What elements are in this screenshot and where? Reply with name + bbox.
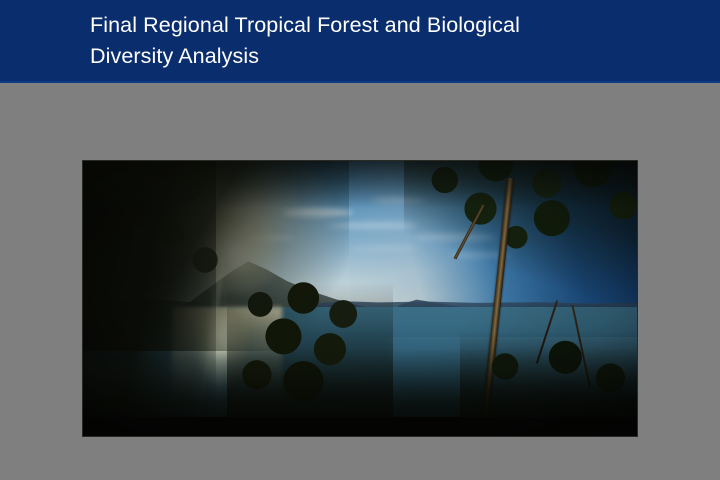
slide-image-frame [82, 160, 638, 437]
tropical-forest-photo [83, 161, 637, 436]
page-title: Final Regional Tropical Forest and Biolo… [90, 10, 650, 72]
presentation-slide: Final Regional Tropical Forest and Biolo… [0, 0, 720, 480]
title-band: Final Regional Tropical Forest and Biolo… [0, 0, 720, 83]
photo-vignette [83, 161, 637, 436]
